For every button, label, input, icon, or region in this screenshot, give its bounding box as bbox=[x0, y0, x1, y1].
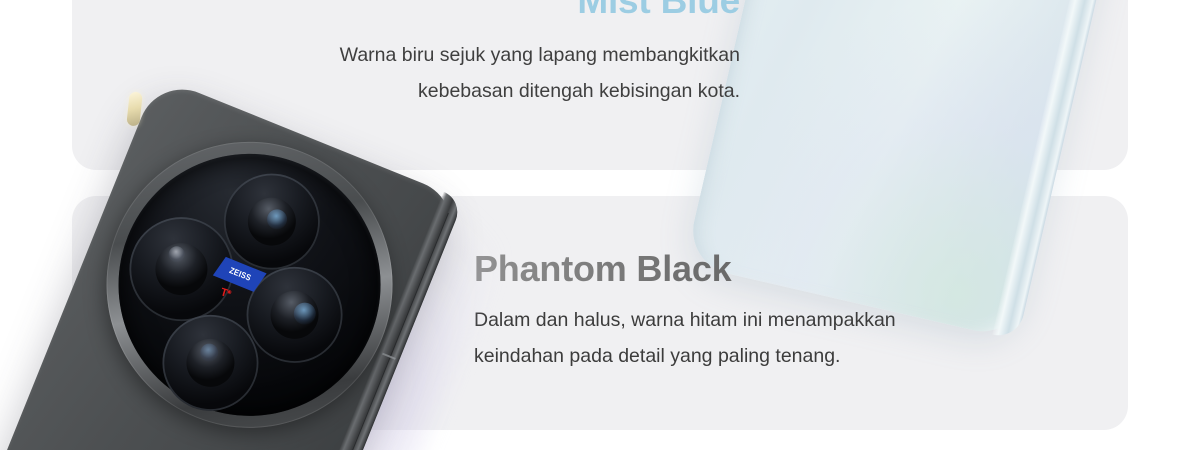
mist-blue-copy-block: Mist Blue Warna biru sejuk yang lapang m… bbox=[250, 0, 740, 109]
mist-blue-description-line-2: kebebasan ditengah kebisingan kota. bbox=[250, 73, 740, 109]
mist-blue-title: Mist Blue bbox=[250, 0, 740, 21]
zeiss-logo-label: ZEISS bbox=[228, 266, 252, 282]
phantom-black-description-line-1: Dalam dan halus, warna hitam ini menampa… bbox=[474, 302, 994, 338]
phantom-black-title: Phantom Black bbox=[474, 250, 994, 288]
phantom-black-description-line-2: keindahan pada detail yang paling tenang… bbox=[474, 338, 994, 374]
mist-blue-description-line-1: Warna biru sejuk yang lapang membangkitk… bbox=[250, 37, 740, 73]
colors-showcase-page: T* Mist Blue Warna biru sejuk yang lapan… bbox=[0, 0, 1200, 450]
phantom-black-copy-block: Phantom Black Dalam dan halus, warna hit… bbox=[474, 250, 994, 374]
lens-inner bbox=[148, 235, 216, 303]
lens-inner bbox=[179, 332, 241, 394]
